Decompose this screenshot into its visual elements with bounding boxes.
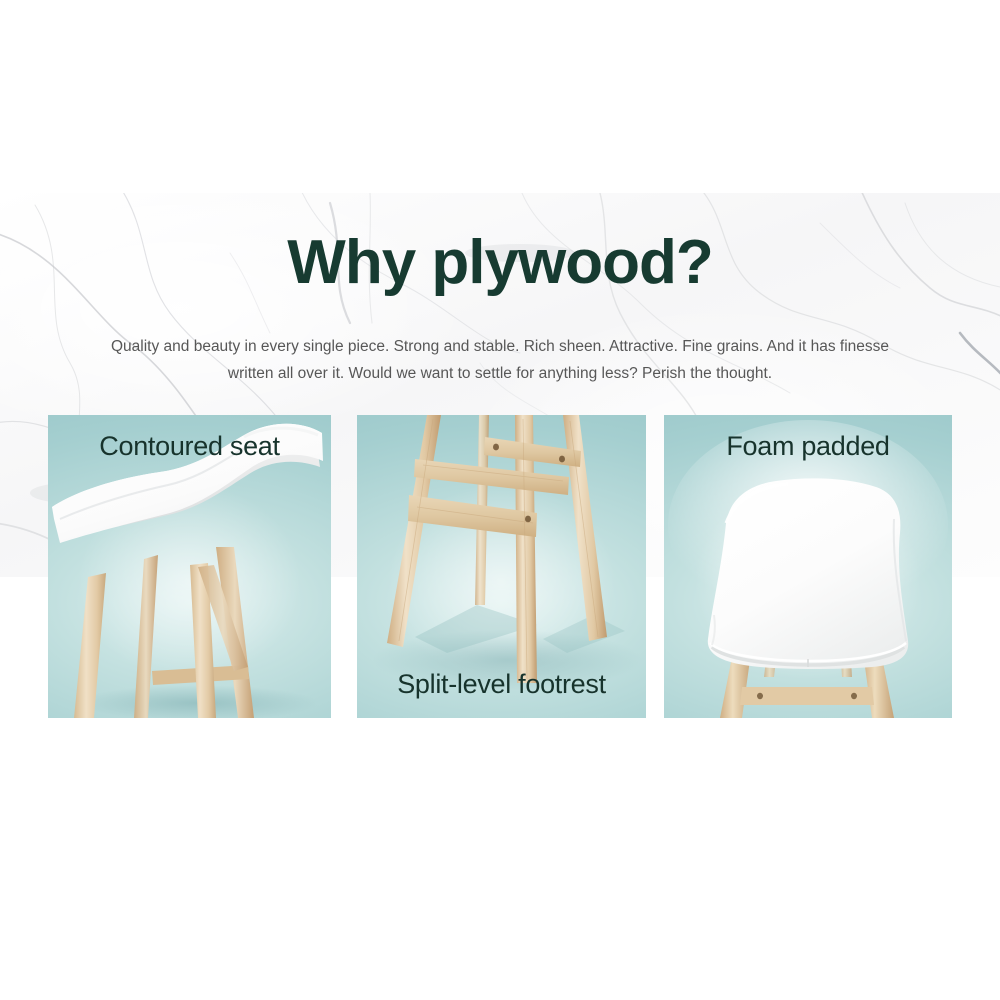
promo-banner: Why plywood? Quality and beauty in every…	[0, 0, 1000, 1000]
feature-label-contoured-seat: Contoured seat	[48, 431, 331, 462]
feature-label-foam-padded: Foam padded	[664, 431, 952, 462]
feature-panel-group: Contoured seat	[0, 0, 1000, 1000]
feature-panel-split-level-footrest: Split-level footrest	[357, 415, 646, 718]
feature-panel-contoured-seat: Contoured seat	[48, 415, 331, 718]
feature-panel-foam-padded: Foam padded	[664, 415, 952, 718]
feature-label-split-level-footrest: Split-level footrest	[357, 669, 646, 700]
